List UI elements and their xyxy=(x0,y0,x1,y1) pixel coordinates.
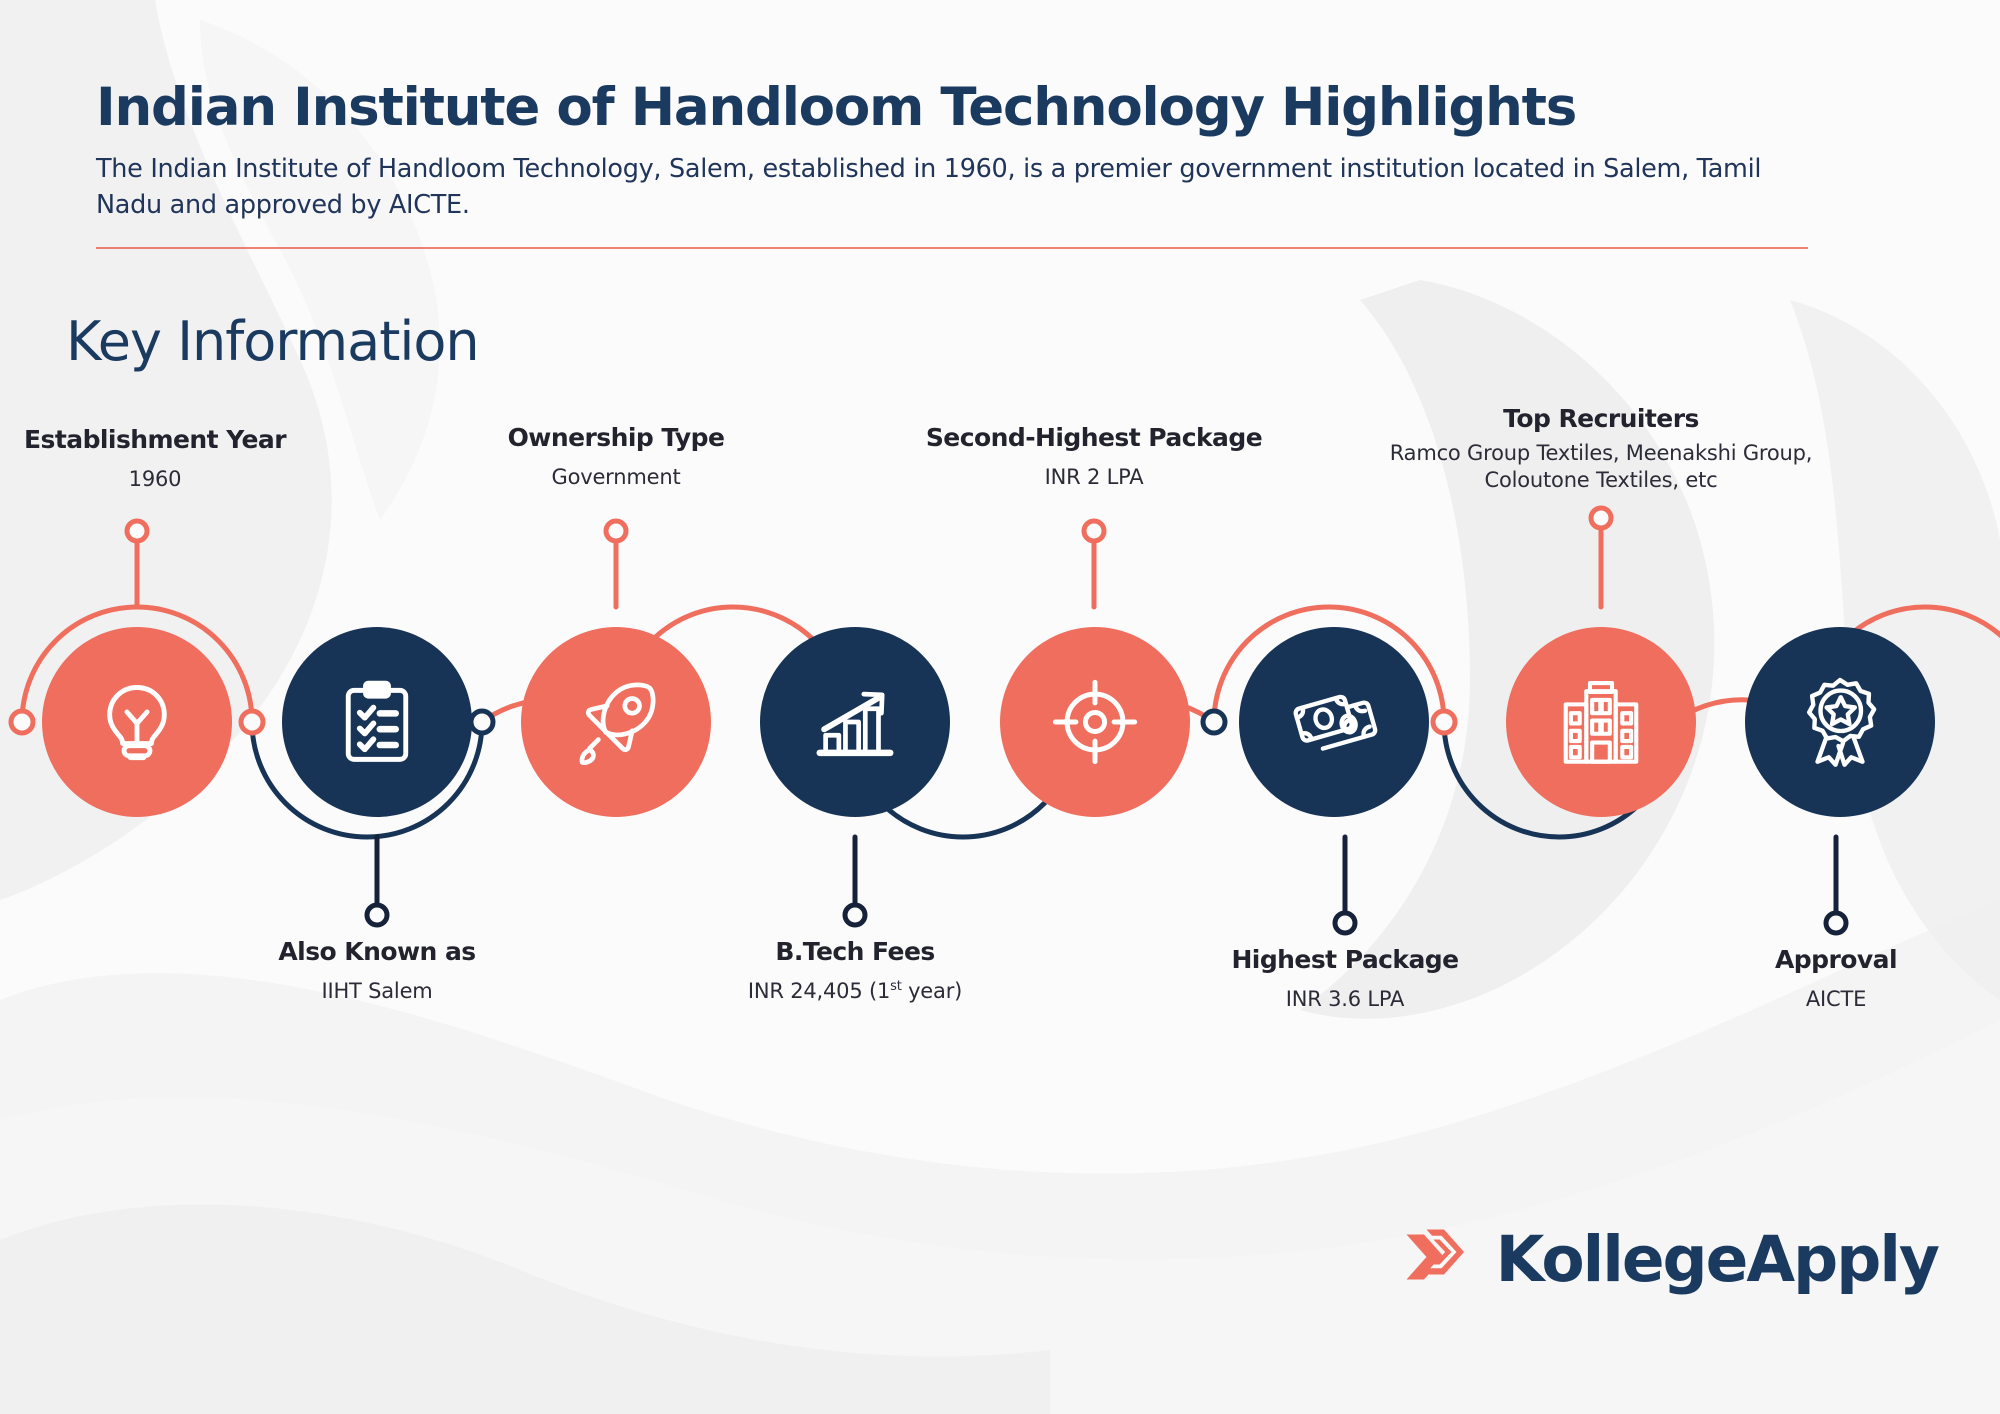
lightbulb-icon xyxy=(91,676,183,768)
label-approval: Approval AICTE xyxy=(1681,945,1991,1013)
label-title: B.Tech Fees xyxy=(700,937,1010,967)
award-ribbon-icon xyxy=(1792,674,1888,770)
label-establishment-year: Establishment Year 1960 xyxy=(0,425,310,493)
fees-prefix: INR 24,405 (1 xyxy=(748,979,890,1003)
header: Indian Institute of Handloom Technology … xyxy=(96,78,1906,249)
node-top-recruiters[interactable] xyxy=(1506,627,1696,817)
label-value: INR 2 LPA xyxy=(869,464,1319,491)
node-also-known-as[interactable] xyxy=(282,627,472,817)
label-value: 1960 xyxy=(0,466,310,493)
node-highest-package[interactable] xyxy=(1239,627,1429,817)
label-title: Highest Package xyxy=(1190,945,1500,975)
label-title: Ownership Type xyxy=(461,423,771,453)
label-title: Approval xyxy=(1681,945,1991,975)
clipboard-checklist-icon xyxy=(331,676,423,768)
label-value: Ramco Group Textiles, Meenakshi Group, C… xyxy=(1385,440,1817,494)
label-top-recruiters: Top Recruiters Ramco Group Textiles, Mee… xyxy=(1385,404,1817,494)
node-btech-fees[interactable] xyxy=(760,627,950,817)
node-establishment-year[interactable] xyxy=(42,627,232,817)
infographic-page: Indian Institute of Handloom Technology … xyxy=(0,0,2000,1414)
label-value: IIHT Salem xyxy=(222,978,532,1005)
label-title: Also Known as xyxy=(222,937,532,967)
label-btech-fees: B.Tech Fees INR 24,405 (1st year) xyxy=(700,937,1010,1005)
label-value: AICTE xyxy=(1681,986,1991,1013)
label-title: Establishment Year xyxy=(0,425,310,455)
node-approval[interactable] xyxy=(1745,627,1935,817)
label-title: Top Recruiters xyxy=(1385,404,1817,434)
building-icon xyxy=(1554,675,1648,769)
page-subtitle: The Indian Institute of Handloom Technol… xyxy=(96,151,1796,223)
label-also-known-as: Also Known as IIHT Salem xyxy=(222,937,532,1005)
label-value: INR 3.6 LPA xyxy=(1190,986,1500,1013)
rocket-icon xyxy=(569,675,663,769)
kollegeapply-logo[interactable]: KollegeApply xyxy=(1394,1217,1938,1302)
node-second-highest-package[interactable] xyxy=(1000,627,1190,817)
label-second-highest-package: Second-Highest Package INR 2 LPA xyxy=(869,423,1319,491)
double-chevron-icon xyxy=(1394,1217,1474,1302)
label-ownership-type: Ownership Type Government xyxy=(461,423,771,491)
label-title: Second-Highest Package xyxy=(869,423,1319,453)
label-value: INR 24,405 (1st year) xyxy=(700,978,1010,1005)
fees-suffix: year) xyxy=(902,979,963,1003)
label-highest-package: Highest Package INR 3.6 LPA xyxy=(1190,945,1500,1013)
growth-bar-chart-icon xyxy=(808,675,902,769)
banknotes-icon xyxy=(1286,674,1382,770)
fees-ordinal-suffix: st xyxy=(890,979,901,994)
header-divider xyxy=(96,247,1808,249)
logo-text: KollegeApply xyxy=(1496,1228,1938,1291)
section-title: Key Information xyxy=(66,310,479,373)
node-ownership-type[interactable] xyxy=(521,627,711,817)
target-crosshair-icon xyxy=(1048,675,1142,769)
label-value: Government xyxy=(461,464,771,491)
page-title: Indian Institute of Handloom Technology … xyxy=(96,78,1906,139)
